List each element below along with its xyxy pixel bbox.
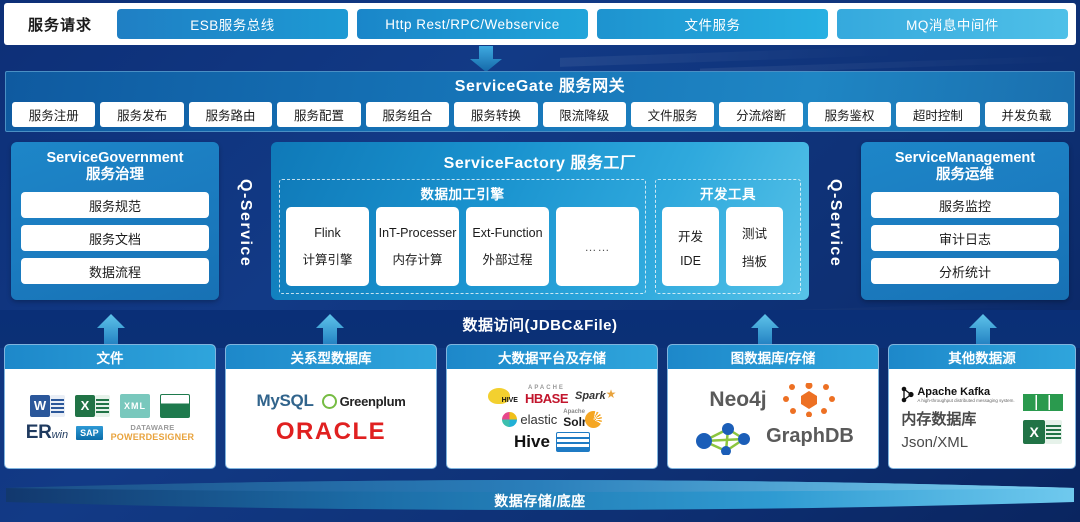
xml-file-logo: XML	[120, 394, 150, 418]
data-source-title-bigdata: 大数据平台及存储	[447, 345, 657, 369]
hbase-logo-text: HBASE	[525, 391, 568, 406]
arrow-up-icon-3	[750, 314, 780, 348]
data-source-title-others: 其他数据源	[889, 345, 1075, 369]
data-source-title-rdbms: 关系型数据库	[226, 345, 436, 369]
graphdb-logo-mark	[781, 383, 837, 417]
solr-logo-sun	[585, 411, 602, 428]
dev-tools-group: 开发工具 开发 IDE 测试 挡板	[655, 179, 801, 294]
neo4j-logo: Neo4j	[709, 388, 766, 412]
file-logo-row-2: ER win SAP DATAWARE POWERDESIGNER	[26, 422, 194, 444]
greenplum-logo-mark	[322, 394, 337, 409]
neo4j-logo-graph	[692, 419, 758, 455]
service-management-title: ServiceManagement 服务运维	[871, 150, 1059, 184]
servicegate-item-timeout[interactable]: 超时控制	[896, 102, 979, 127]
elastic-logo-mark	[502, 412, 517, 427]
excel-logo-letter: X	[75, 395, 95, 417]
servicegate-item-auth[interactable]: 服务鉴权	[808, 102, 891, 127]
data-access-bar: 数据访问(JDBC&File)	[0, 310, 1080, 348]
greenplum-logo: Greenplum	[322, 394, 406, 409]
tile-ext-function-line2: 外部过程	[482, 249, 532, 268]
service-management-item-monitor[interactable]: 服务监控	[871, 192, 1059, 218]
servicegate-item-compose[interactable]: 服务组合	[366, 102, 449, 127]
word-logo-letter: W	[30, 395, 50, 417]
greenplum-logo-text: Greenplum	[340, 394, 406, 409]
powerdesigner-logo-text: POWERDESIGNER	[111, 432, 195, 442]
graphdb-logo-row-1: Neo4j	[709, 383, 836, 417]
service-management-item-analytics[interactable]: 分析统计	[871, 258, 1059, 284]
data-source-logos-graphdb: Neo4j	[668, 369, 878, 468]
data-source-logos-others: Apache Kafka A high-throughput distribut…	[889, 369, 1075, 468]
tile-dev-ide-line2: IDE	[680, 254, 701, 268]
arrow-up-icon-2	[315, 314, 345, 348]
elastic-logo: elastic	[502, 412, 557, 427]
green-table-logo	[1023, 394, 1063, 411]
service-government-title-en: ServiceGovernment	[46, 150, 183, 166]
service-request-bar: 服务请求 ESB服务总线 Http Rest/RPC/Webservice 文件…	[4, 3, 1076, 45]
data-source-card-graphdb[interactable]: 图数据库/存储 Neo4j	[667, 344, 879, 469]
powerdesigner-logo: DATAWARE POWERDESIGNER	[111, 423, 195, 442]
word-logo: W	[30, 395, 65, 417]
hive-logo: Hive	[514, 432, 550, 452]
data-processing-engine-tiles: Flink 计算引擎 InT-Processer 内存计算 Ext-Functi…	[286, 207, 639, 286]
servicegate-item-concurrency[interactable]: 并发负载	[985, 102, 1068, 127]
tile-flink-line1: Flink	[314, 226, 340, 240]
tile-test-mock-line1: 测试	[742, 223, 767, 242]
graphdb-logo-row-2: GraphDB	[692, 419, 854, 455]
others-icon-column: X	[1023, 394, 1063, 444]
mysql-logo: MySQL	[257, 391, 314, 411]
data-sources-row: 文件 W X XML E	[4, 344, 1076, 469]
qservice-left-text: Q-Service	[236, 179, 254, 267]
servicegate-item-throttle[interactable]: 限流降级	[543, 102, 626, 127]
service-request-button-mq[interactable]: MQ消息中间件	[837, 9, 1068, 39]
tile-int-processer-line1: InT-Processer	[379, 226, 457, 240]
service-management-item-auditlog[interactable]: 审计日志	[871, 225, 1059, 251]
bigdata-logo-row-3: Hive	[514, 432, 590, 452]
dev-tools-title: 开发工具	[662, 183, 794, 203]
dataware-logo: DATAWARE	[130, 423, 174, 432]
data-processing-engine-title: 数据加工引擎	[286, 183, 639, 203]
servicegate-item-transform[interactable]: 服务转换	[454, 102, 537, 127]
green-file-logo	[160, 394, 190, 418]
tile-flink-line2: 计算引擎	[302, 249, 352, 268]
service-government-title: ServiceGovernment 服务治理	[21, 150, 209, 184]
file-logo-row-1: W X XML	[30, 394, 190, 418]
data-source-logos-rdbms: MySQL Greenplum ORACLE	[226, 369, 436, 468]
service-government-item-dataflow[interactable]: 数据流程	[21, 258, 209, 284]
service-management-card: ServiceManagement 服务运维 服务监控 审计日志 分析统计	[861, 142, 1069, 300]
service-request-button-esb[interactable]: ESB服务总线	[117, 9, 348, 39]
solr-logo-text: Solr	[563, 415, 586, 429]
graphdb-logo-text: GraphDB	[766, 425, 854, 448]
tile-dev-ide-line1: 开发	[678, 226, 703, 245]
qservice-left-label: Q-Service	[219, 138, 271, 308]
data-source-title-graphdb: 图数据库/存储	[668, 345, 878, 369]
service-factory-title: ServiceFactory 服务工厂	[279, 149, 801, 173]
data-source-card-others[interactable]: 其他数据源 Apache Kafka A high-throughput dis…	[888, 344, 1076, 469]
qservice-right-text: Q-Service	[826, 179, 844, 267]
service-management-title-en: ServiceManagement	[895, 150, 1035, 166]
servicegate-item-list: 服务注册 服务发布 服务路由 服务配置 服务组合 服务转换 限流降级 文件服务 …	[6, 100, 1074, 127]
arrow-up-icon-4	[968, 314, 998, 348]
data-source-title-files: 文件	[5, 345, 215, 369]
service-government-item-spec[interactable]: 服务规范	[21, 192, 209, 218]
tile-more-ellipsis: ……	[585, 240, 611, 254]
servicegate-item-circuitbreak[interactable]: 分流熔断	[719, 102, 802, 127]
service-request-button-file[interactable]: 文件服务	[597, 9, 828, 39]
erwin-logo: ER win	[26, 422, 68, 444]
excel-logo-2: X	[1023, 420, 1062, 444]
service-government-item-doc[interactable]: 服务文档	[21, 225, 209, 251]
spark-logo-text: Spark	[575, 390, 606, 402]
hive-bee-logo: HIVE	[488, 388, 518, 404]
tile-test-mock-line2: 挡板	[742, 251, 767, 270]
servicegate-item-fileservice[interactable]: 文件服务	[631, 102, 714, 127]
others-text-column: Apache Kafka A high-throughput distribut…	[901, 386, 1014, 451]
bigdata-logo-row-1: HIVE APACHE HBASE Spark ★	[488, 385, 617, 406]
spark-logo-star: ★	[606, 390, 617, 398]
servicegate-item-publish[interactable]: 服务发布	[100, 102, 183, 127]
data-source-card-bigdata[interactable]: 大数据平台及存储 HIVE APACHE HBASE Spark ★	[446, 344, 658, 469]
servicegate-panel: ServiceGate 服务网关 服务注册 服务发布 服务路由 服务配置 服务组…	[5, 71, 1075, 132]
data-source-card-files[interactable]: 文件 W X XML E	[4, 344, 216, 469]
data-source-logos-files: W X XML ER win S	[5, 369, 215, 468]
foundation-label: 数据存储/底座	[6, 491, 1074, 511]
hive-logo-mark	[556, 432, 590, 452]
data-source-card-rdbms[interactable]: 关系型数据库 MySQL Greenplum ORACLE	[225, 344, 437, 469]
solr-logo: Apache Solr	[563, 409, 601, 429]
bg-streak-1	[560, 46, 900, 67]
service-government-card: ServiceGovernment 服务治理 服务规范 服务文档 数据流程	[11, 142, 219, 300]
bigdata-logo-row-2: elastic Apache Solr	[502, 409, 601, 429]
kafka-logo-text: Apache Kafka	[917, 386, 1014, 398]
servicegate-title: ServiceGate 服务网关	[6, 76, 1074, 100]
data-source-logos-bigdata: HIVE APACHE HBASE Spark ★ elastic	[447, 369, 657, 468]
service-request-label: 服务请求	[12, 14, 108, 35]
tile-dev-ide[interactable]: 开发 IDE	[662, 207, 719, 286]
servicegate-item-config[interactable]: 服务配置	[277, 102, 360, 127]
service-management-title-cn: 服务运维	[871, 167, 1059, 184]
spark-logo: Spark ★	[575, 390, 616, 402]
service-factory-card: ServiceFactory 服务工厂 数据加工引擎 Flink 计算引擎 In…	[271, 142, 809, 300]
tile-int-processer-line2: 内存计算	[392, 249, 442, 268]
tile-more[interactable]: ……	[556, 207, 639, 286]
service-request-button-http[interactable]: Http Rest/RPC/Webservice	[357, 9, 588, 39]
foundation-base: 数据存储/底座	[6, 478, 1074, 518]
tile-ext-function-line1: Ext-Function	[472, 226, 542, 240]
arrow-down-icon	[466, 46, 506, 72]
tile-test-mock[interactable]: 测试 挡板	[726, 207, 783, 286]
kafka-logo: Apache Kafka A high-throughput distribut…	[901, 386, 1014, 403]
kafka-logo-mark	[901, 386, 914, 403]
rdbms-logo-row-1: MySQL Greenplum	[257, 391, 406, 411]
tile-flink[interactable]: Flink 计算引擎	[286, 207, 369, 286]
excel-logo: X	[75, 395, 110, 417]
dev-tools-tiles: 开发 IDE 测试 挡板	[662, 207, 794, 286]
hive-bee-logo-text: HIVE	[502, 397, 518, 404]
excel-logo-2-lines	[1045, 420, 1062, 444]
word-logo-lines	[50, 395, 65, 417]
arrow-up-icon-1	[96, 314, 126, 348]
inmemory-db-label: 内存数据库	[901, 408, 976, 429]
excel-logo-lines	[95, 395, 110, 417]
tile-ext-function[interactable]: Ext-Function 外部过程	[466, 207, 549, 286]
qservice-right-label: Q-Service	[809, 138, 861, 308]
json-xml-label: Json/XML	[901, 434, 968, 451]
data-access-title: 数据访问(JDBC&File)	[0, 310, 1080, 342]
service-government-title-cn: 服务治理	[21, 167, 209, 184]
tile-int-processer[interactable]: InT-Processer 内存计算	[376, 207, 459, 286]
elastic-logo-text: elastic	[520, 412, 557, 427]
middle-row: ServiceGovernment 服务治理 服务规范 服务文档 数据流程 Q-…	[5, 138, 1075, 308]
sap-logo: SAP	[76, 426, 103, 440]
rdbms-logo-row-2: ORACLE	[276, 418, 386, 446]
excel-logo-2-letter: X	[1023, 420, 1045, 444]
kafka-logo-tagline: A high-throughput distributed messaging …	[917, 398, 1014, 403]
oracle-logo: ORACLE	[276, 418, 386, 446]
service-factory-groups: 数据加工引擎 Flink 计算引擎 InT-Processer 内存计算 Ext…	[279, 179, 801, 294]
erwin-logo-text: ER	[26, 422, 52, 444]
hbase-logo: APACHE HBASE	[525, 385, 568, 406]
data-processing-engine-group: 数据加工引擎 Flink 计算引擎 InT-Processer 内存计算 Ext…	[279, 179, 646, 294]
servicegate-item-register[interactable]: 服务注册	[12, 102, 95, 127]
erwin-logo-suffix: win	[52, 429, 69, 441]
servicegate-item-route[interactable]: 服务路由	[189, 102, 272, 127]
